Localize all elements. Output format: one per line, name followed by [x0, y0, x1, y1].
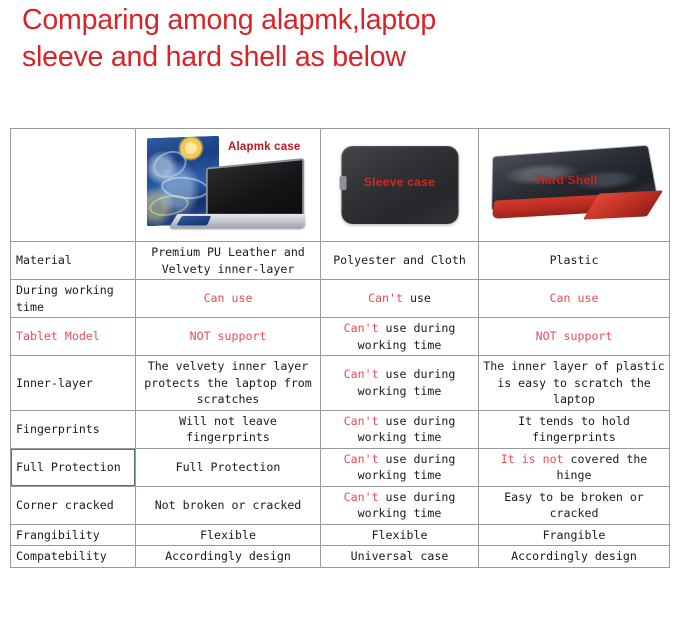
header-cell-sleeve-case: Sleeve case — [321, 129, 479, 242]
cell-text-run: Can use — [550, 291, 599, 305]
table-cell: Polyester and Cloth — [321, 242, 479, 280]
table-cell: Full Protection — [136, 448, 321, 486]
table-cell: Universal case — [321, 546, 479, 568]
table-cell: The inner layer of plastic is easy to sc… — [479, 356, 670, 411]
row-label-text: During working time — [16, 283, 114, 314]
cell-text-run: Can't — [344, 367, 379, 381]
row-label-text: Tablet Model — [16, 329, 100, 343]
table-cell: Premium PU Leather and Velvety inner-lay… — [136, 242, 321, 280]
header-cell-alapmk-case: Alapmk case — [136, 129, 321, 242]
table-cell: Flexible — [136, 524, 321, 546]
cell-text-run: Will not leave fingerprints — [179, 414, 277, 445]
row-label-text: Fingerprints — [16, 422, 100, 436]
alapmk-case-image: Alapmk case — [140, 131, 316, 239]
cell-text-run: Universal case — [351, 549, 449, 563]
cell-text-run: Can't — [368, 291, 403, 305]
table-body: Alapmk case Sleeve case — [11, 129, 670, 568]
table-row: During working timeCan useCan't useCan u… — [11, 280, 670, 318]
table-cell: Easy to be broken or cracked — [479, 486, 670, 524]
table-cell: NOT support — [479, 318, 670, 356]
cell-text-run: Flexible — [200, 528, 256, 542]
cell-text-run: Can't — [344, 321, 379, 335]
table-row: FrangibilityFlexibleFlexibleFrangible — [11, 524, 670, 546]
header-corner-cell — [11, 129, 136, 242]
table-row: MaterialPremium PU Leather and Velvety i… — [11, 242, 670, 280]
sleeve-case-label: Sleeve case — [341, 174, 458, 191]
table-cell: Flexible — [321, 524, 479, 546]
cell-text-run: Easy to be broken or cracked — [504, 490, 644, 521]
row-label-frangibility: Frangibility — [11, 524, 136, 546]
table-row: Tablet ModelNOT supportCan't use during … — [11, 318, 670, 356]
row-label-tablet-model: Tablet Model — [11, 318, 136, 356]
table-cell: Can't use during working time — [321, 318, 479, 356]
row-label-during-working-time: During working time — [11, 280, 136, 318]
table-header-row: Alapmk case Sleeve case — [11, 129, 670, 242]
table-cell: Frangible — [479, 524, 670, 546]
sleeve-case-artwork: Sleeve case — [341, 146, 458, 224]
cell-text-run: Polyester and Cloth — [333, 253, 466, 267]
table-row: Inner-layerThe velvety inner layer prote… — [11, 356, 670, 411]
table-row: CompatebilityAccordingly designUniversal… — [11, 546, 670, 568]
row-label-corner-cracked: Corner cracked — [11, 486, 136, 524]
table-cell: Not broken or cracked — [136, 486, 321, 524]
cell-text-run: use — [403, 291, 431, 305]
hard-shell-artwork: Hard Shell — [488, 142, 660, 228]
cell-text-run: Full Protection — [176, 460, 281, 474]
header-cell-hard-shell: Hard Shell — [479, 129, 670, 242]
hard-shell-label: Hard Shell — [536, 172, 597, 189]
table-row: Corner crackedNot broken or crackedCan't… — [11, 486, 670, 524]
row-label-text: Full Protection — [16, 460, 121, 474]
table-cell: Plastic — [479, 242, 670, 280]
cell-text-run: Can't — [344, 452, 379, 466]
row-label-compatebility: Compatebility — [11, 546, 136, 568]
cell-text-run: Flexible — [372, 528, 428, 542]
cell-text-run: Accordingly design — [165, 549, 291, 563]
table-cell: It tends to hold fingerprints — [479, 410, 670, 448]
cell-text-run: The velvety inner layer protects the lap… — [144, 359, 312, 406]
row-label-inner-layer: Inner-layer — [11, 356, 136, 411]
cell-text-run: Not broken or cracked — [155, 498, 302, 512]
cell-text-run: Frangible — [543, 528, 606, 542]
row-label-text: Corner cracked — [16, 498, 114, 512]
cell-text-run: It tends to hold fingerprints — [518, 414, 630, 445]
table-cell: Accordingly design — [136, 546, 321, 568]
cell-text-run: Premium PU Leather and Velvety inner-lay… — [151, 245, 305, 276]
cell-text-run: Can't — [344, 414, 379, 428]
table-cell: Can't use during working time — [321, 410, 479, 448]
cell-text-run: covered the hinge — [557, 452, 648, 483]
table-cell: Can use — [479, 280, 670, 318]
table-row: FingerprintsWill not leave fingerprintsC… — [11, 410, 670, 448]
table-cell: It is not covered the hinge — [479, 448, 670, 486]
cell-text-run: Can't — [344, 490, 379, 504]
cell-text-run: NOT support — [536, 329, 613, 343]
hard-shell-image: Hard Shell — [483, 131, 665, 239]
table-cell: NOT support — [136, 318, 321, 356]
row-label-full-protection: Full Protection — [11, 448, 136, 486]
row-label-text: Frangibility — [16, 528, 100, 542]
table-cell: Can't use — [321, 280, 479, 318]
page-title: Comparing among alapmk,laptop sleeve and… — [22, 2, 662, 76]
table-cell: Can't use during working time — [321, 356, 479, 411]
comparison-table: Alapmk case Sleeve case — [10, 128, 670, 568]
row-label-text: Compatebility — [16, 549, 107, 563]
row-label-fingerprints: Fingerprints — [11, 410, 136, 448]
cell-text-run: The inner layer of plastic is easy to sc… — [483, 359, 664, 406]
row-label-text: Inner-layer — [16, 376, 93, 390]
table-cell: Can't use during working time — [321, 448, 479, 486]
cell-text-run: Can use — [204, 291, 253, 305]
cell-text-run: Accordingly design — [511, 549, 637, 563]
table-cell: Can use — [136, 280, 321, 318]
row-label-text: Material — [16, 253, 72, 267]
sleeve-case-image: Sleeve case — [325, 131, 474, 239]
table-cell: Can't use during working time — [321, 486, 479, 524]
table-row: Full ProtectionFull ProtectionCan't use … — [11, 448, 670, 486]
table-cell: Accordingly design — [479, 546, 670, 568]
table-cell: The velvety inner layer protects the lap… — [136, 356, 321, 411]
cell-text-run: Plastic — [550, 253, 599, 267]
row-label-material: Material — [11, 242, 136, 280]
table-cell: Will not leave fingerprints — [136, 410, 321, 448]
laptop-base-icon — [168, 214, 305, 229]
cell-text-run: It is not — [501, 452, 564, 466]
alapmk-case-label: Alapmk case — [228, 139, 301, 156]
cell-text-run: NOT support — [190, 329, 267, 343]
